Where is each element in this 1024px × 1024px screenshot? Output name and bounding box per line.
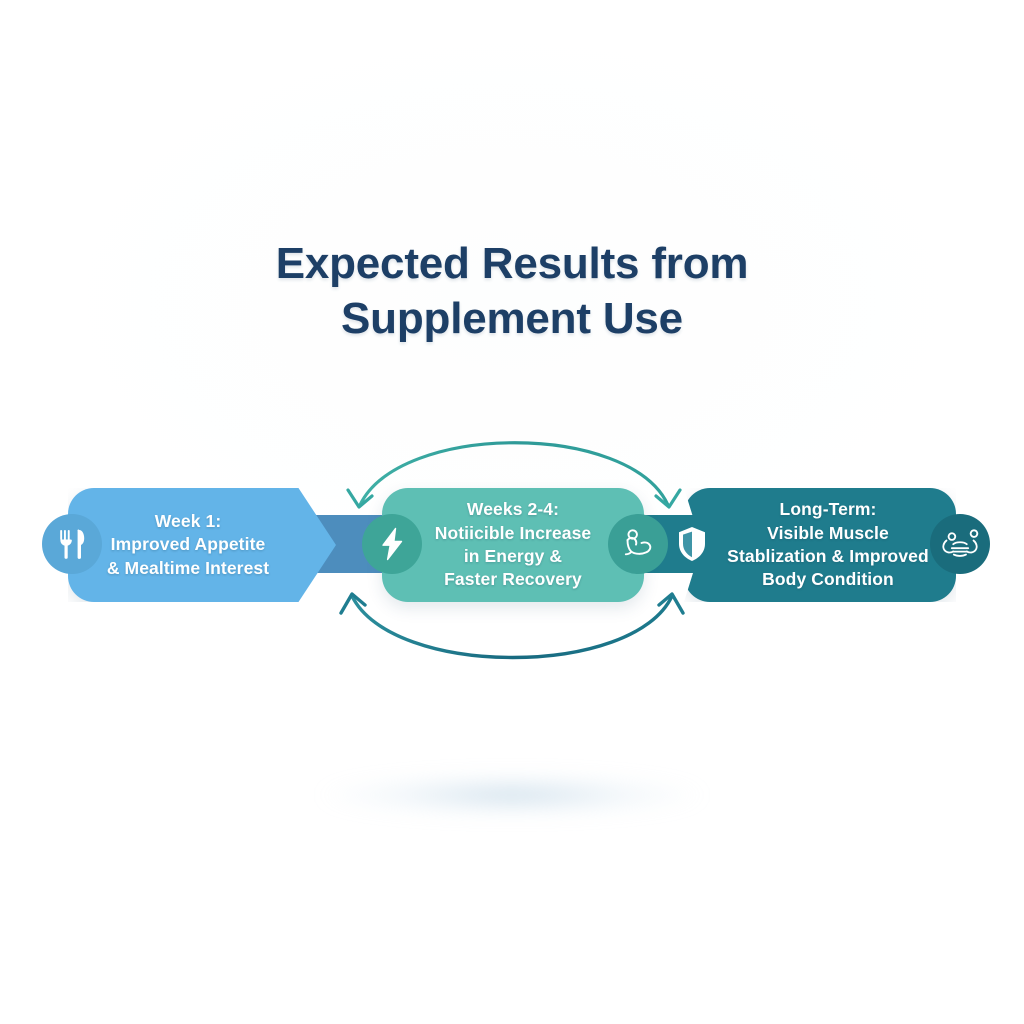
bicep-flex-icon: [608, 514, 668, 574]
page-title: Expected Results from Supplement Use: [0, 238, 1024, 345]
shield-icon: [662, 514, 722, 574]
stage-weeks-2-4-label: Weeks 2-4: Notiicible Increase in Energy…: [423, 498, 604, 592]
diagram-shadow-glow: [252, 755, 772, 835]
arc-bottom: [341, 594, 683, 658]
stage-week-1-label: Week 1: Improved Appetite & Mealtime Int…: [95, 510, 281, 580]
stage-week-1[interactable]: Week 1: Improved Appetite & Mealtime Int…: [68, 488, 336, 602]
stage-long-term[interactable]: Long-Term: Visible Muscle Stablization &…: [684, 488, 956, 602]
infographic-canvas: Expected Results from Supplement Use: [0, 0, 1024, 1024]
fork-knife-icon: [42, 514, 102, 574]
page-title-line-1: Expected Results from: [0, 238, 1024, 290]
muscular-torso-icon: [930, 514, 990, 574]
stage-long-term-label: Long-Term: Visible Muscle Stablization &…: [715, 498, 941, 592]
process-flow-diagram: Week 1: Improved Appetite & Mealtime Int…: [0, 400, 1024, 720]
page-title-line-2: Supplement Use: [0, 293, 1024, 345]
lightning-bolt-icon: [362, 514, 422, 574]
